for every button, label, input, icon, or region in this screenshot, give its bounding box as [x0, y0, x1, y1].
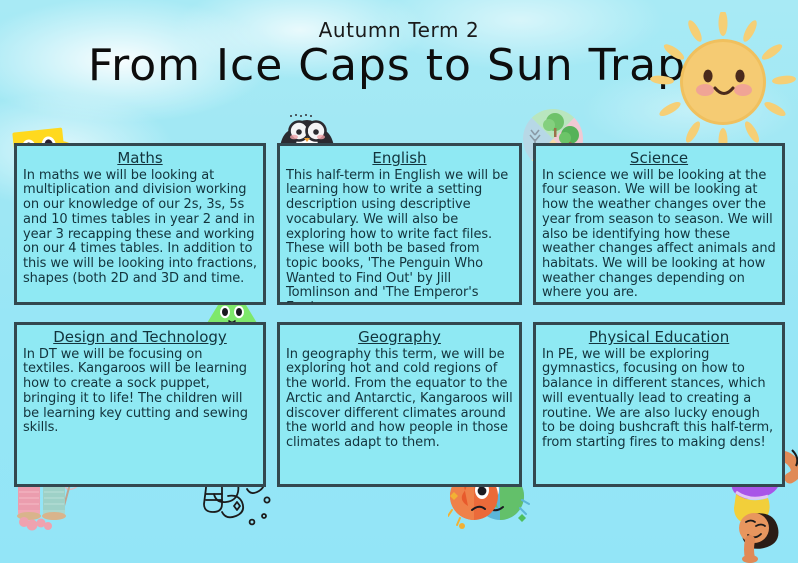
subject-text-maths: In maths we will be looking at multiplic…: [23, 169, 257, 287]
subject-title-design-and-technology: Design and Technology: [23, 328, 257, 347]
subject-card-maths: Maths In maths we will be looking at mul…: [14, 143, 266, 305]
subject-card-english: English This half-term in English we wil…: [277, 143, 522, 305]
subject-card-physical-education: Physical Education In PE, we will be exp…: [533, 322, 785, 487]
subject-title-maths: Maths: [23, 149, 257, 168]
subject-text-geography: In geography this term, we will be explo…: [286, 348, 513, 451]
subject-title-physical-education: Physical Education: [542, 328, 776, 347]
subject-text-english: This half-term in English we will be lea…: [286, 169, 513, 305]
subject-text-science: In science we will be looking at the fou…: [542, 169, 776, 301]
subject-title-science: Science: [542, 149, 776, 168]
topic-web-poster: Autumn Term 2 From Ice Caps to Sun Traps: [0, 0, 798, 563]
subject-title-geography: Geography: [286, 328, 513, 347]
subject-text-physical-education: In PE, we will be exploring gymnastics, …: [542, 348, 776, 451]
subject-text-design-and-technology: In DT we will be focusing on textiles. K…: [23, 348, 257, 436]
subject-card-geography: Geography In geography this term, we wil…: [277, 322, 522, 487]
subject-card-science: Science In science we will be looking at…: [533, 143, 785, 305]
subject-grid: Maths In maths we will be looking at mul…: [0, 0, 798, 563]
subject-card-design-and-technology: Design and Technology In DT we will be f…: [14, 322, 266, 487]
subject-title-english: English: [286, 149, 513, 168]
